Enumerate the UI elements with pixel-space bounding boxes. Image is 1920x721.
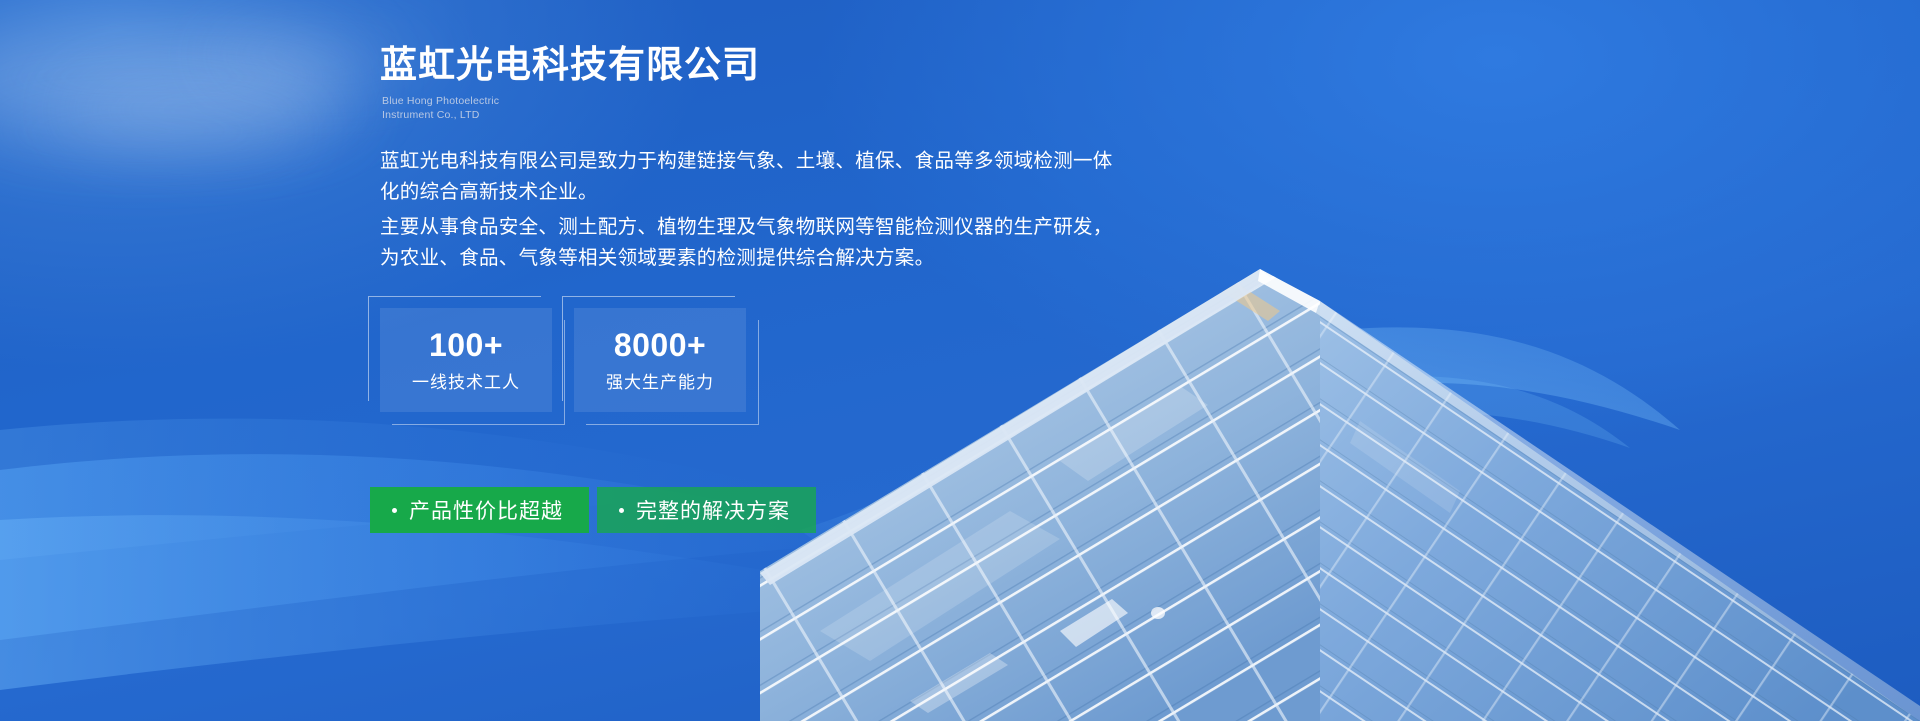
stat-card-capacity: 8000+ 强大生产能力 xyxy=(574,308,746,412)
bullet-dot-icon xyxy=(619,508,624,513)
feature-tag-value[interactable]: 产品性价比超越 xyxy=(370,487,589,533)
subtitle-line-2: Instrument Co., LTD xyxy=(382,108,499,122)
intro-paragraph-2: 主要从事食品安全、测土配方、植物生理及气象物联网等智能检测仪器的生产研发， 为农… xyxy=(380,212,1180,274)
feature-tag-label: 产品性价比超越 xyxy=(409,495,563,525)
intro-p1-line-1: 蓝虹光电科技有限公司是致力于构建链接气象、土壤、植保、食品等多领域检测一体 xyxy=(380,146,1180,177)
hero-banner: 蓝虹光电科技有限公司 Blue Hong Photoelectric Instr… xyxy=(0,0,1920,721)
intro-paragraph-1: 蓝虹光电科技有限公司是致力于构建链接气象、土壤、植保、食品等多领域检测一体 化的… xyxy=(380,146,1180,208)
subtitle-line-1: Blue Hong Photoelectric xyxy=(382,94,499,108)
banner-content: 蓝虹光电科技有限公司 Blue Hong Photoelectric Instr… xyxy=(380,0,1530,721)
company-title: 蓝虹光电科技有限公司 xyxy=(380,42,760,88)
stat-label: 一线技术工人 xyxy=(412,374,520,391)
intro-p2-line-1: 主要从事食品安全、测土配方、植物生理及气象物联网等智能检测仪器的生产研发， xyxy=(380,212,1180,243)
stat-label: 强大生产能力 xyxy=(606,374,714,391)
stat-value: 8000+ xyxy=(614,329,706,361)
company-subtitle-en: Blue Hong Photoelectric Instrument Co., … xyxy=(382,94,499,122)
stats-group: 100+ 一线技术工人 8000+ 强大生产能力 xyxy=(380,308,746,412)
intro-p2-line-2: 为农业、食品、气象等相关领域要素的检测提供综合解决方案。 xyxy=(380,243,1180,274)
feature-tags: 产品性价比超越 完整的解决方案 xyxy=(370,487,816,533)
intro-p1-line-2: 化的综合高新技术企业。 xyxy=(380,177,1180,208)
stat-value: 100+ xyxy=(429,329,503,361)
feature-tag-label: 完整的解决方案 xyxy=(636,495,790,525)
stat-card-workers: 100+ 一线技术工人 xyxy=(380,308,552,412)
bullet-dot-icon xyxy=(392,508,397,513)
feature-tag-solution[interactable]: 完整的解决方案 xyxy=(597,487,816,533)
